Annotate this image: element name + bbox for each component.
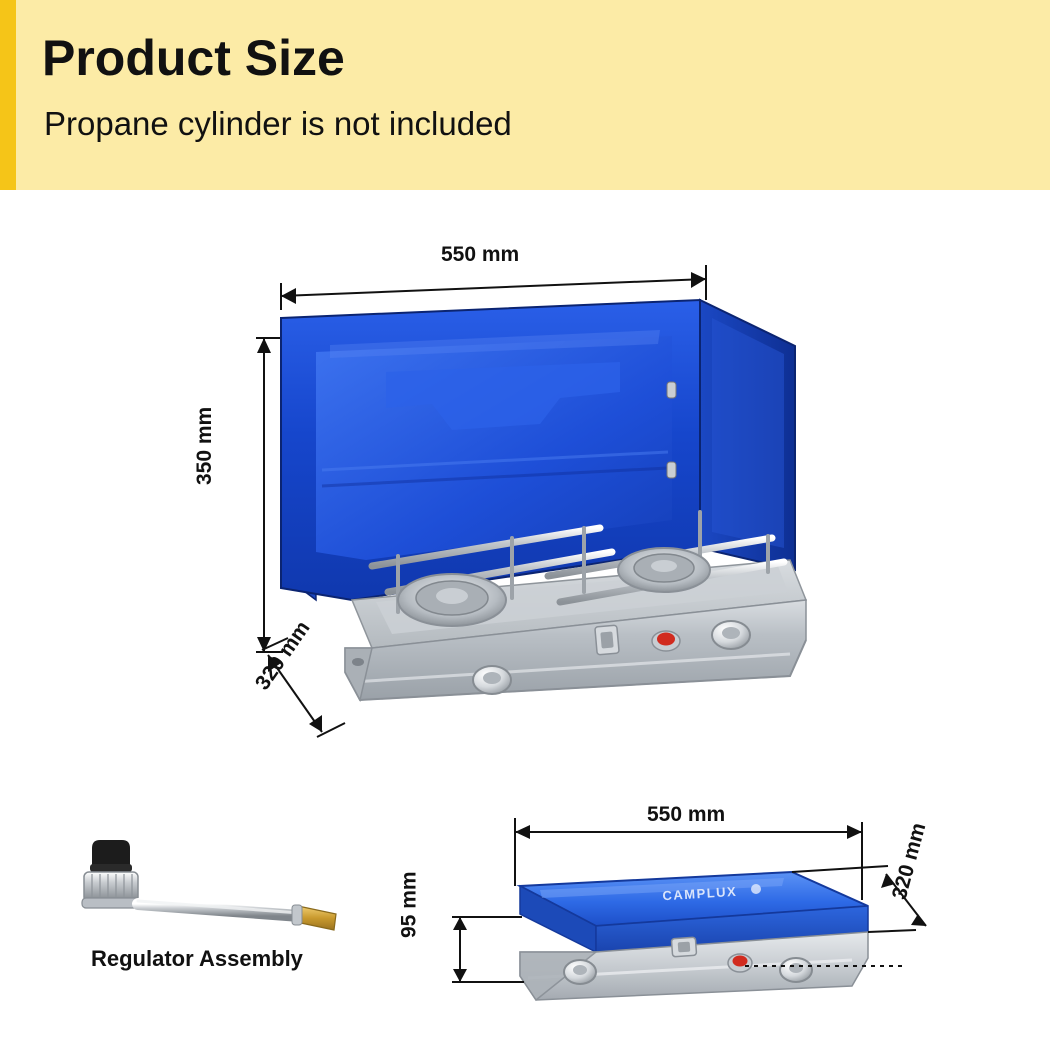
arrow-bottom-closed-height xyxy=(453,969,467,982)
regulator-assembly-caption: Regulator Assembly xyxy=(91,946,303,972)
arrow-top-closed-height xyxy=(453,917,467,930)
arrow-left-closed-width xyxy=(515,825,530,839)
arrow-bottom-depth xyxy=(309,715,322,732)
dimension-line-closed-width xyxy=(515,818,862,900)
dimension-line-closed-height xyxy=(452,917,524,982)
dimension-line-height xyxy=(256,338,283,652)
arrow-top-height xyxy=(257,338,271,353)
product-diagram-stage: CAMPLUX xyxy=(0,0,1050,1050)
closed-stove-width-label: 550 mm xyxy=(647,803,725,827)
arrow-bottom-height xyxy=(257,637,271,652)
arrow-right-width-top xyxy=(691,272,706,288)
arrow-right-closed-width xyxy=(847,825,862,839)
svg-text:CAMPLUX: CAMPLUX xyxy=(662,884,738,904)
closed-stove-depth-label: 320 mm xyxy=(888,820,931,902)
open-stove-width-label: 550 mm xyxy=(441,243,519,267)
arrow-left-width-top xyxy=(281,288,296,304)
arrow-bottom-closed-depth xyxy=(911,914,926,926)
dimension-line-width-top xyxy=(281,265,706,310)
open-stove-depth-label: 320 mm xyxy=(251,617,316,695)
closed-stove-height-label: 95 mm xyxy=(398,871,422,938)
open-stove-height-label: 350 mm xyxy=(193,407,217,485)
